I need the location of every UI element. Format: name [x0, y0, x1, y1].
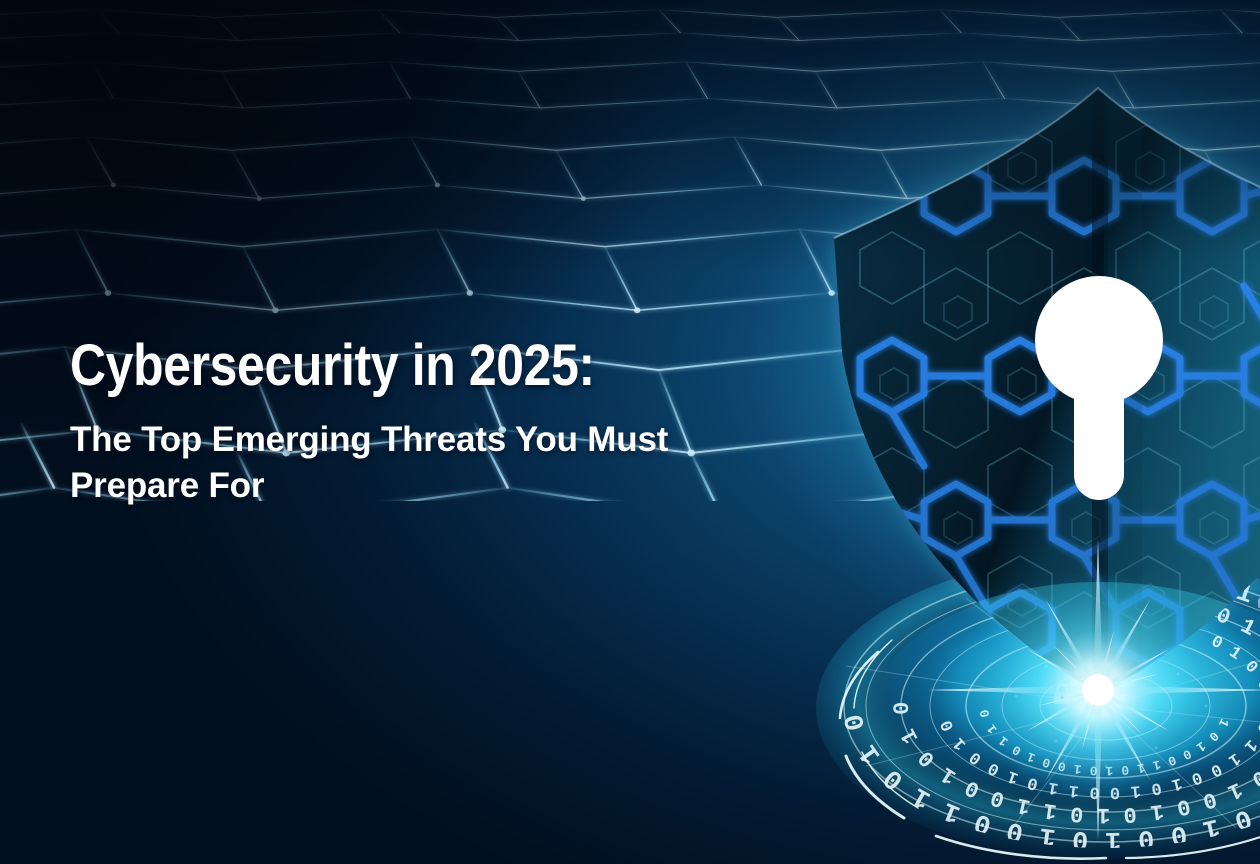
headline-block: Cybersecurity in 2025: The Top Emerging … [70, 336, 710, 510]
page-subtitle: The Top Emerging Threats You Must Prepar… [70, 417, 670, 509]
page-title: Cybersecurity in 2025: [70, 336, 620, 395]
cybersecurity-banner: 1 0 1 0 0 1 1 0 1 0 1 0 0 1 0 1 1 0 0 1 … [0, 0, 1260, 864]
